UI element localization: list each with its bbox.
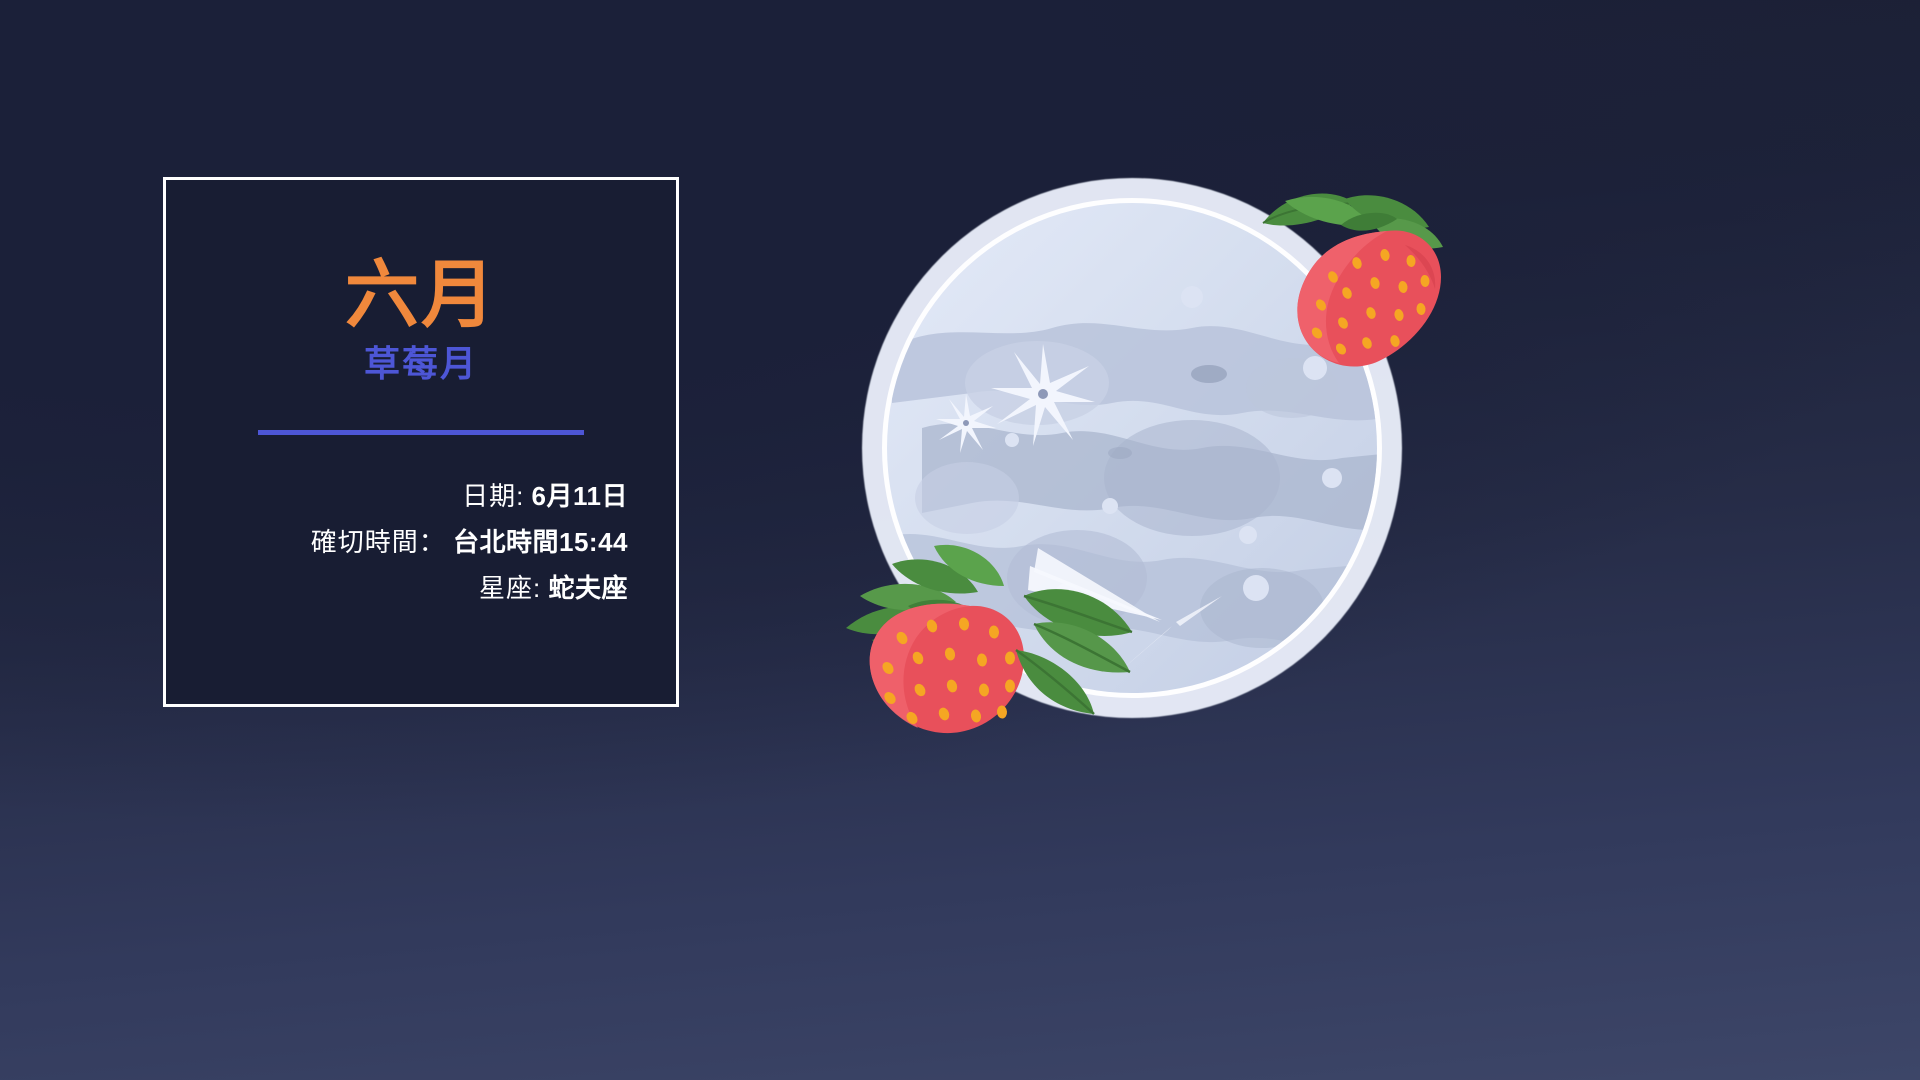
info-label-time: 確切時間： [311, 527, 446, 557]
info-label-date: 日期: [462, 481, 524, 511]
info-value-zodiac: 蛇夫座 [548, 573, 628, 603]
strawberry-leaves-front [1016, 589, 1132, 714]
info-list: 日期: 6月11日 確切時間： 台北時間15:44 星座: 蛇夫座 [166, 483, 676, 601]
card-content: 六月 草莓月 日期: 6月11日 確切時間： 台北時間15:44 星座: 蛇夫座 [166, 258, 676, 601]
divider-line [258, 430, 584, 435]
info-value-date: 6月11日 [532, 481, 628, 511]
info-card: 六月 草莓月 日期: 6月11日 確切時間： 台北時間15:44 星座: 蛇夫座 [163, 177, 679, 707]
info-row-date: 日期: 6月11日 [166, 483, 628, 509]
page-title: 六月 [166, 258, 676, 332]
page-subtitle: 草莓月 [166, 346, 676, 382]
info-label-zodiac: 星座: [479, 573, 541, 603]
poster-canvas: 六月 草莓月 日期: 6月11日 確切時間： 台北時間15:44 星座: 蛇夫座 [0, 0, 1920, 1080]
info-row-time: 確切時間： 台北時間15:44 [166, 529, 628, 555]
strawberry-bottom-left [838, 520, 1168, 760]
strawberry-top-right [1245, 185, 1455, 385]
info-row-zodiac: 星座: 蛇夫座 [166, 575, 628, 601]
info-value-time: 台北時間15:44 [453, 527, 628, 557]
